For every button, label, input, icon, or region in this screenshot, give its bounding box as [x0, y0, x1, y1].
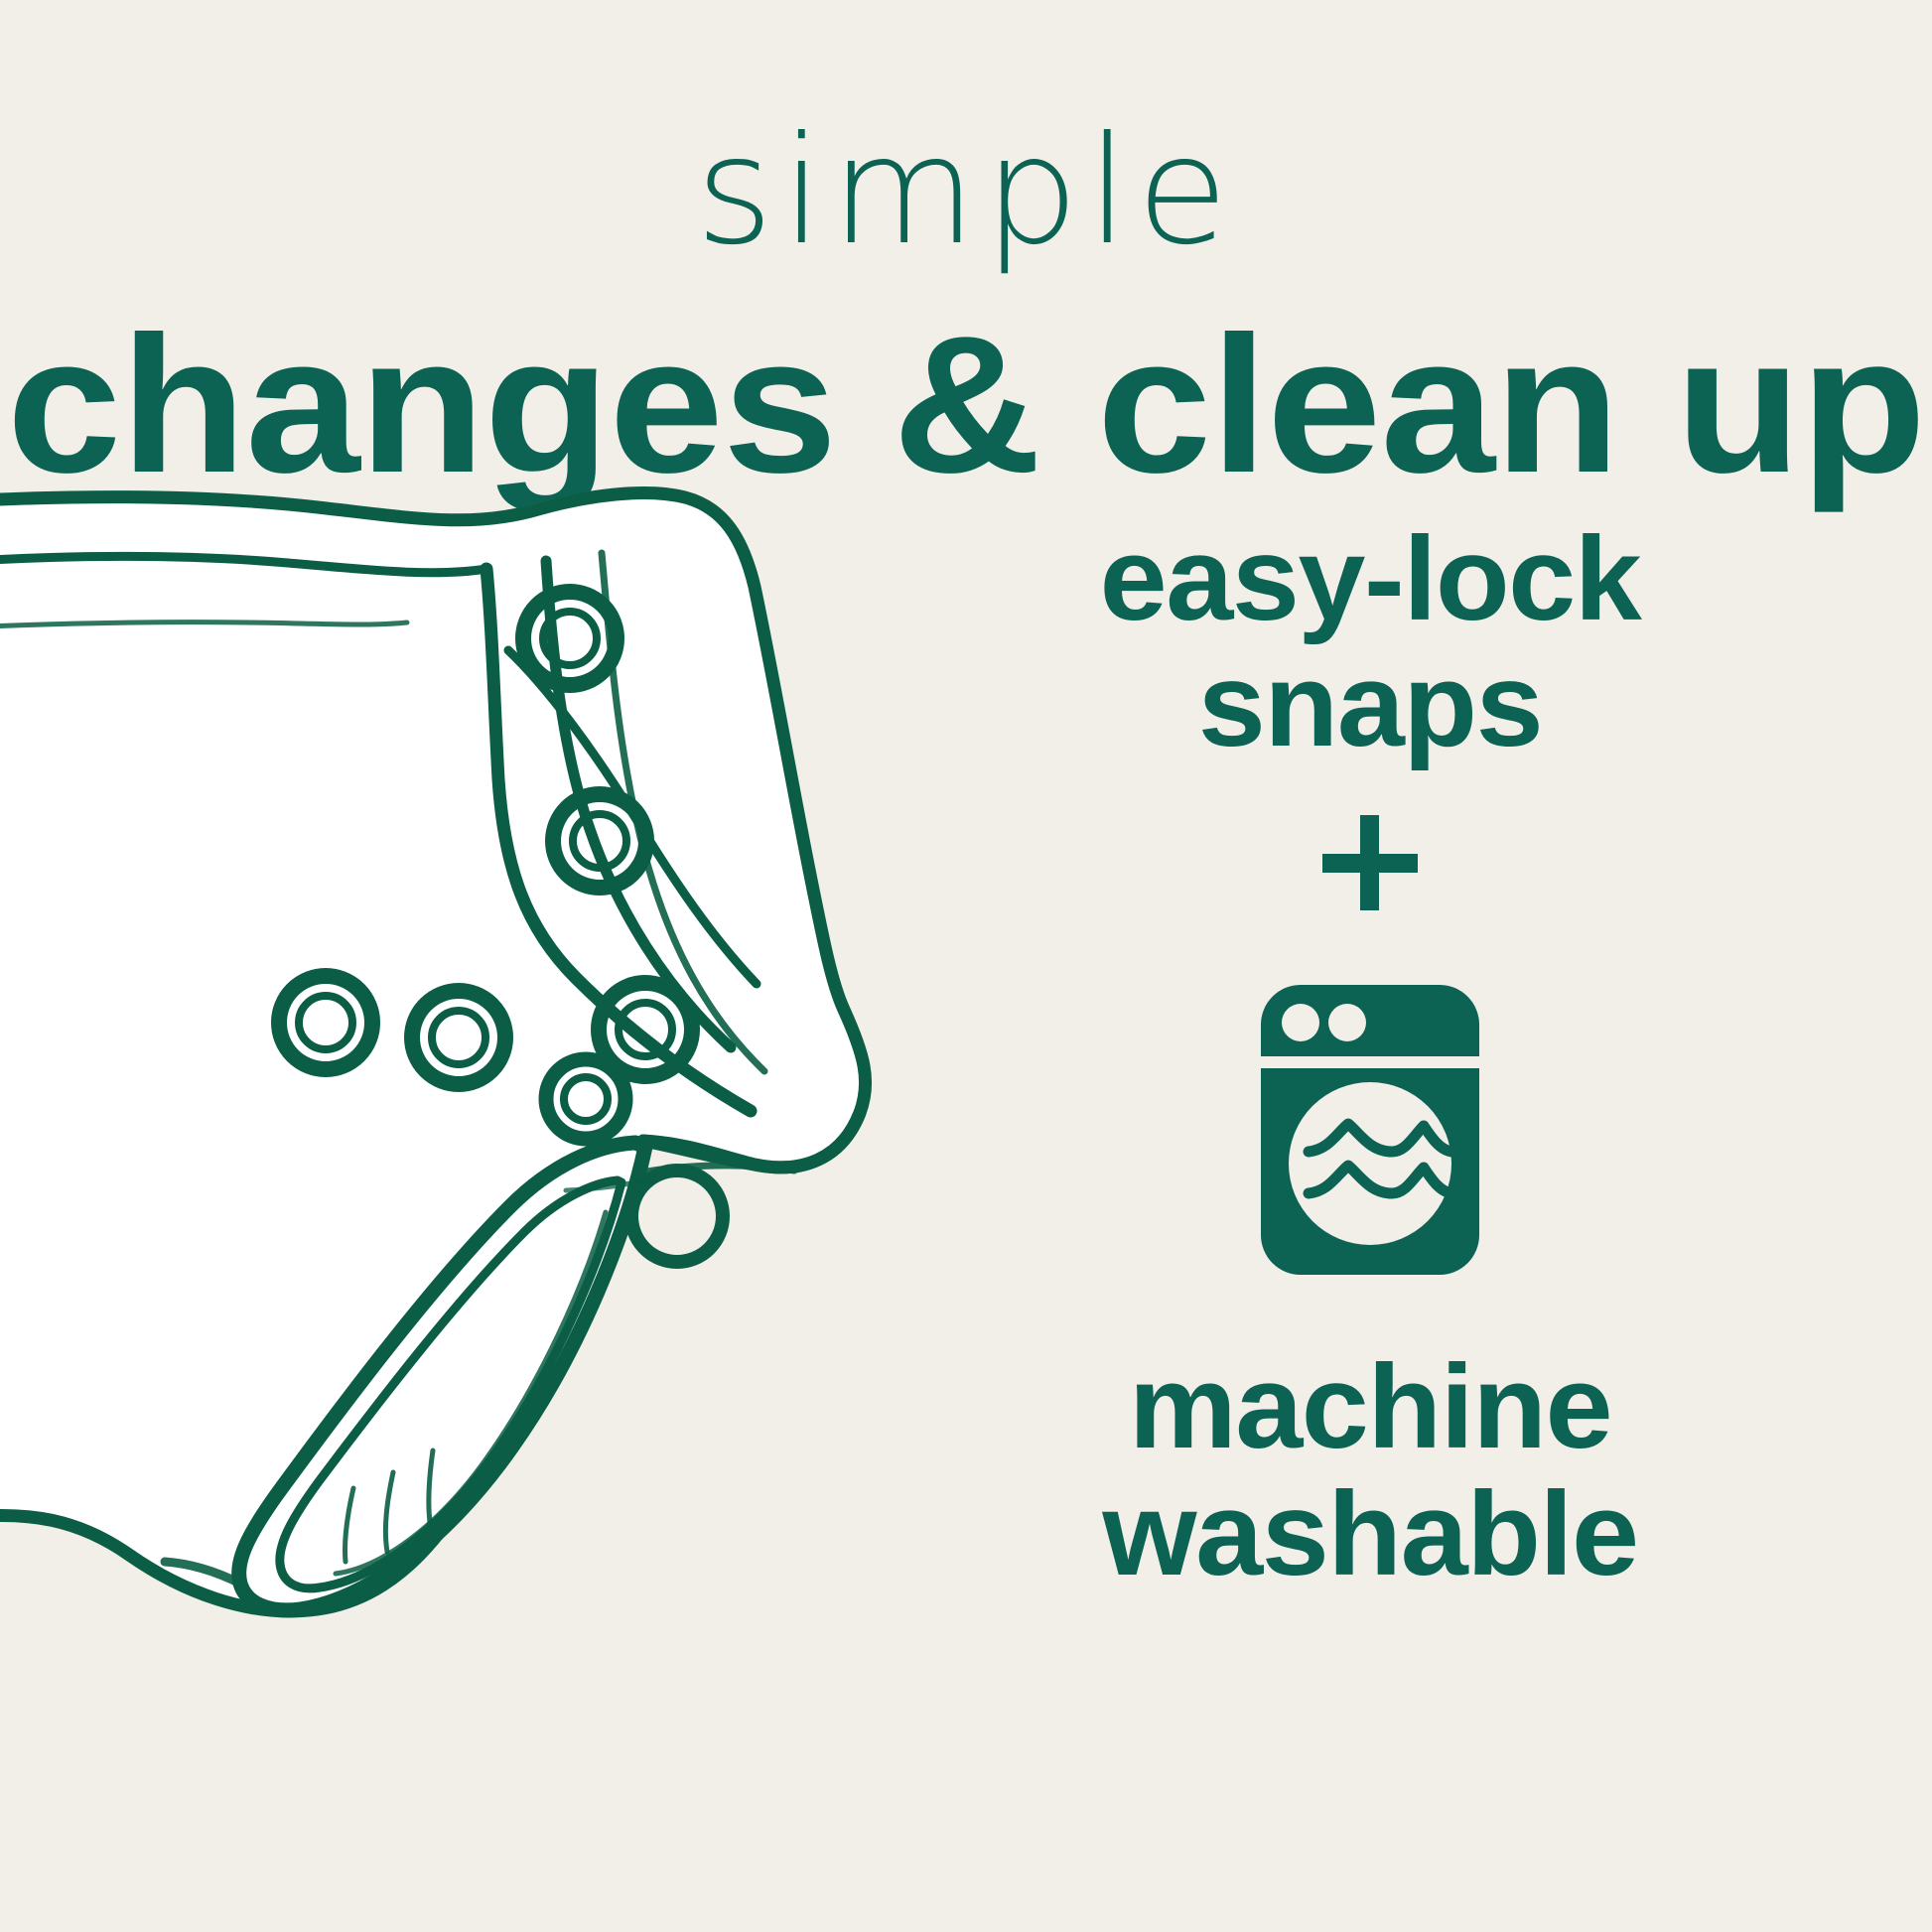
washing-machine-icon: [1221, 967, 1519, 1291]
washer-dial-left: [1282, 1004, 1319, 1041]
washer-dial-right: [1328, 1004, 1366, 1041]
machine-washable-label: machine washable: [985, 1344, 1754, 1596]
snap-socket-open: [631, 1171, 723, 1262]
headline-block: simple changes & clean up: [0, 0, 1932, 500]
machine-washable-line-1: machine: [985, 1344, 1754, 1470]
eyebrow-text: simple: [0, 117, 1932, 266]
machine-washable-line-2: washable: [985, 1471, 1754, 1597]
plus-row: [993, 768, 1747, 957]
plus-icon: [1322, 815, 1418, 910]
cloth-diaper-illustration: [0, 452, 943, 1653]
marketing-graphic: simple changes & clean up: [0, 0, 1932, 1932]
washer-row: [993, 967, 1747, 1291]
feature-column: easy-lock snaps: [993, 516, 1747, 1597]
easy-lock-snaps-label: easy-lock snaps: [985, 516, 1754, 768]
easy-lock-snaps-line-1: easy-lock: [985, 516, 1754, 642]
plus-icon-vertical-bar: [1360, 815, 1379, 910]
easy-lock-snaps-line-2: snaps: [985, 642, 1754, 768]
